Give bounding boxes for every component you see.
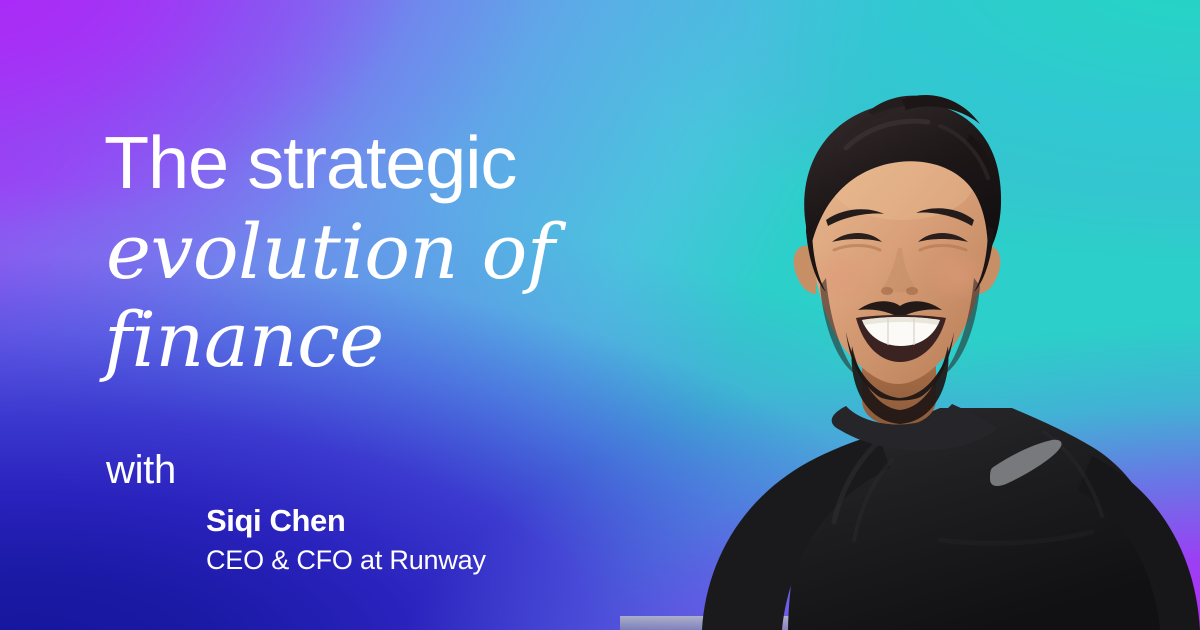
promo-card: The strategic evolution of finance with … bbox=[0, 0, 1200, 630]
title-line-2: evolution of bbox=[106, 214, 555, 290]
speaker-portrait bbox=[640, 70, 1200, 630]
headline-block: The strategic evolution of finance with … bbox=[108, 126, 555, 576]
title-line-1: The strategic bbox=[104, 126, 555, 200]
title-line-3: finance bbox=[104, 302, 555, 378]
with-label: with bbox=[106, 450, 555, 490]
speaker-name: Siqi Chen bbox=[206, 504, 555, 539]
speaker-role: CEO & CFO at Runway bbox=[206, 544, 555, 576]
speaker-block: Siqi Chen CEO & CFO at Runway bbox=[206, 504, 555, 576]
